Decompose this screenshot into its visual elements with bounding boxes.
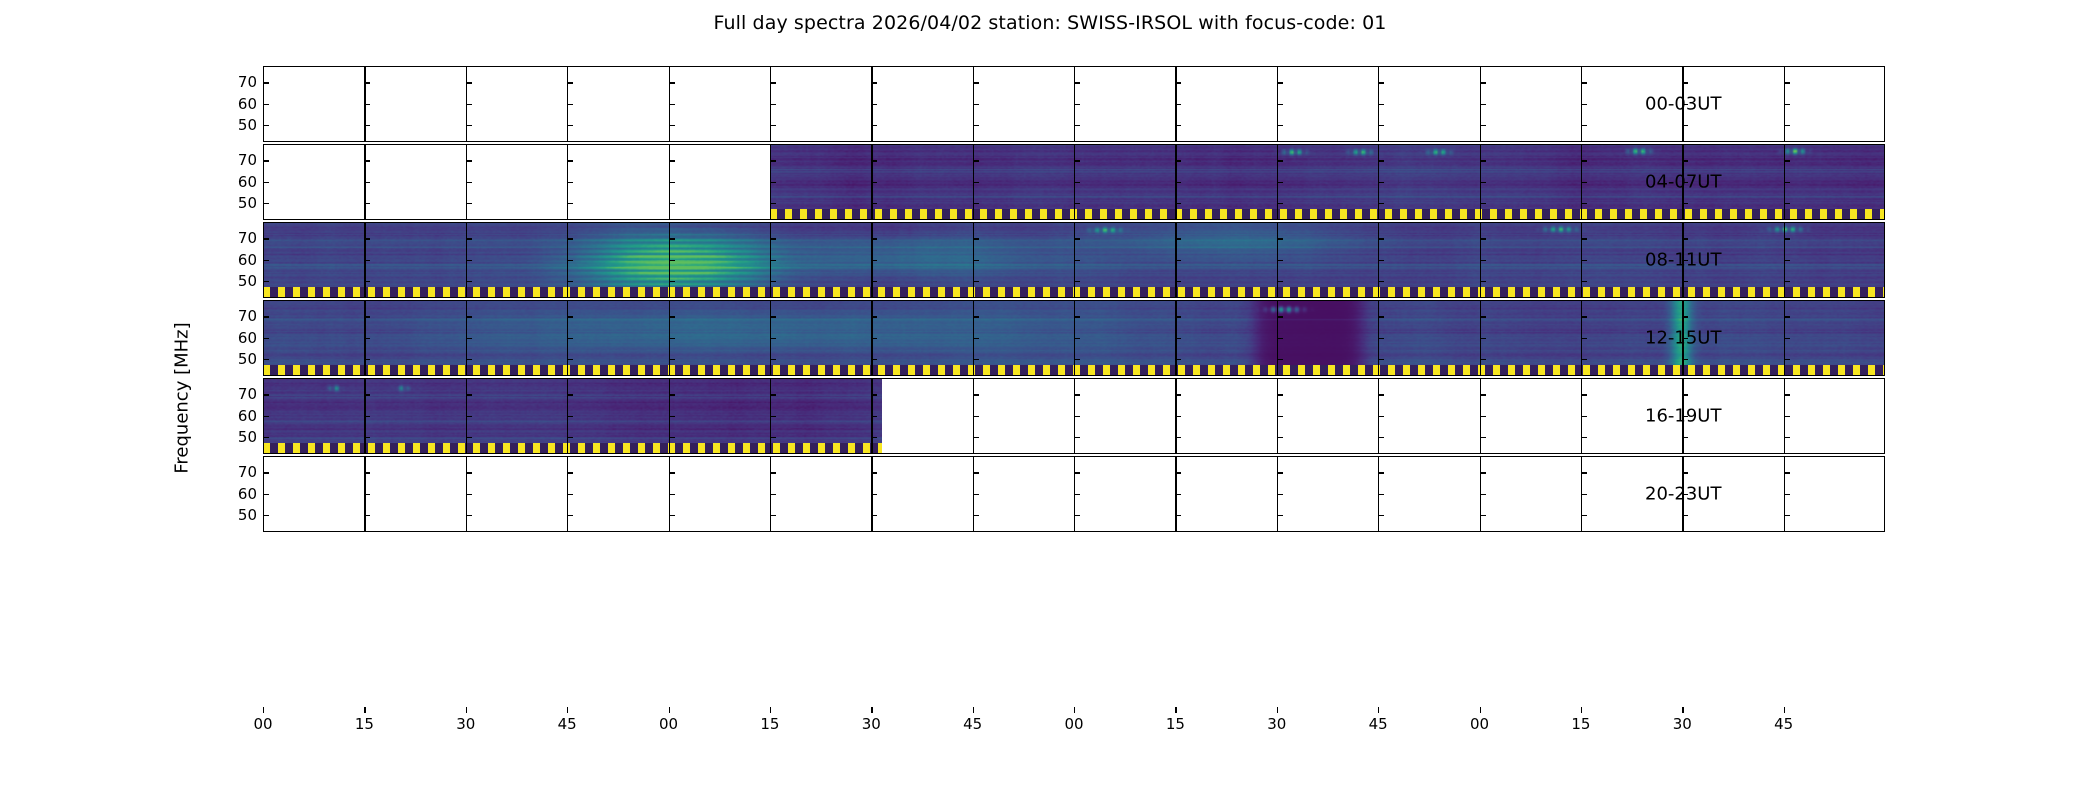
y-axis-tick-label: 60 xyxy=(238,173,257,191)
x-axis-tick xyxy=(567,707,568,713)
page-title: Full day spectra 2026/04/02 station: SWI… xyxy=(0,12,2100,34)
calibration-marker-strip xyxy=(263,443,882,454)
x-axis-tick-label: 45 xyxy=(1369,715,1388,733)
y-axis-tick-label: 50 xyxy=(238,194,257,212)
spectrogram-row[interactable]: 706050 xyxy=(263,300,1885,376)
x-axis-tick xyxy=(871,707,872,713)
x-axis-tick-label: 30 xyxy=(1267,715,1286,733)
y-axis-tick-label: 50 xyxy=(238,272,257,290)
x-axis-tick xyxy=(1277,707,1278,713)
x-axis-tick xyxy=(1074,707,1075,713)
x-axis-tick-label: 30 xyxy=(862,715,881,733)
x-axis-tick-label: 45 xyxy=(963,715,982,733)
y-axis-tick-label: 70 xyxy=(238,307,257,325)
row-time-label: 12-15UT xyxy=(1645,328,1721,349)
spectrogram-canvas xyxy=(263,144,1885,220)
x-axis-tick-label: 00 xyxy=(659,715,678,733)
spectrogram-canvas xyxy=(263,300,1885,376)
x-axis-tick-label: 00 xyxy=(1064,715,1083,733)
x-axis-tick xyxy=(1175,707,1176,713)
x-axis-tick xyxy=(973,707,974,713)
calibration-marker-strip xyxy=(263,287,1885,298)
row-time-label: 16-19UT xyxy=(1645,406,1721,427)
x-axis-tick-label: 00 xyxy=(253,715,272,733)
spectrogram-canvas xyxy=(263,456,1885,532)
x-axis-tick xyxy=(1784,707,1785,713)
spectrogram-row[interactable]: 706050 xyxy=(263,66,1885,142)
x-axis-tick-label: 30 xyxy=(1673,715,1692,733)
spectrogram-row[interactable]: 706050 xyxy=(263,456,1885,532)
calibration-marker-strip xyxy=(770,209,1885,220)
x-axis-tick xyxy=(1682,707,1683,713)
row-time-label: 20-23UT xyxy=(1645,484,1721,505)
spectrogram-figure: Full day spectra 2026/04/02 station: SWI… xyxy=(0,0,2100,800)
spectrogram-row[interactable]: 706050 xyxy=(263,144,1885,220)
x-axis-tick-label: 30 xyxy=(456,715,475,733)
row-time-label: 08-11UT xyxy=(1645,250,1721,271)
x-axis-tick-label: 15 xyxy=(1166,715,1185,733)
row-time-label: 00-03UT xyxy=(1645,94,1721,115)
y-axis-tick-label: 60 xyxy=(238,407,257,425)
y-axis-tick-label: 60 xyxy=(238,329,257,347)
x-axis-tick-label: 15 xyxy=(1571,715,1590,733)
x-axis-tick-label: 45 xyxy=(558,715,577,733)
spectrogram-canvas xyxy=(263,222,1885,298)
y-axis-tick-label: 50 xyxy=(238,350,257,368)
x-axis-tick-label: 15 xyxy=(355,715,374,733)
x-axis-tick xyxy=(1581,707,1582,713)
y-axis-tick-label: 60 xyxy=(238,485,257,503)
x-axis-tick-label: 15 xyxy=(760,715,779,733)
x-axis-tick-label: 00 xyxy=(1470,715,1489,733)
x-axis-tick xyxy=(770,707,771,713)
x-axis-tick xyxy=(669,707,670,713)
y-axis-tick-label: 60 xyxy=(238,95,257,113)
y-axis-tick-label: 50 xyxy=(238,506,257,524)
y-axis-tick-label: 70 xyxy=(238,385,257,403)
spectrogram-data-block xyxy=(263,300,1885,376)
x-axis-tick xyxy=(364,707,365,713)
spectrogram-canvas xyxy=(263,378,1885,454)
y-axis-tick-label: 70 xyxy=(238,463,257,481)
y-axis-tick-label: 70 xyxy=(238,151,257,169)
spectrogram-row[interactable]: 706050 xyxy=(263,222,1885,298)
y-axis-tick-label: 60 xyxy=(238,251,257,269)
y-axis-label: Frequency [MHz] xyxy=(172,322,193,473)
calibration-marker-strip xyxy=(263,365,1885,376)
spectrogram-row[interactable]: 706050 xyxy=(263,378,1885,454)
spectrogram-data-block xyxy=(263,222,1885,298)
x-axis-tick xyxy=(263,707,264,713)
y-axis-tick-label: 50 xyxy=(238,428,257,446)
x-axis-tick xyxy=(1378,707,1379,713)
x-axis-tick-label: 45 xyxy=(1774,715,1793,733)
x-axis-tick xyxy=(466,707,467,713)
row-time-label: 04-07UT xyxy=(1645,172,1721,193)
y-axis-tick-label: 70 xyxy=(238,229,257,247)
y-axis-tick-label: 50 xyxy=(238,116,257,134)
spectrogram-canvas xyxy=(263,66,1885,142)
x-axis: 00153045001530450015304500153045 xyxy=(263,713,1885,743)
x-axis-tick xyxy=(1480,707,1481,713)
y-axis-tick-label: 70 xyxy=(238,73,257,91)
spectrogram-data-block xyxy=(263,378,882,454)
